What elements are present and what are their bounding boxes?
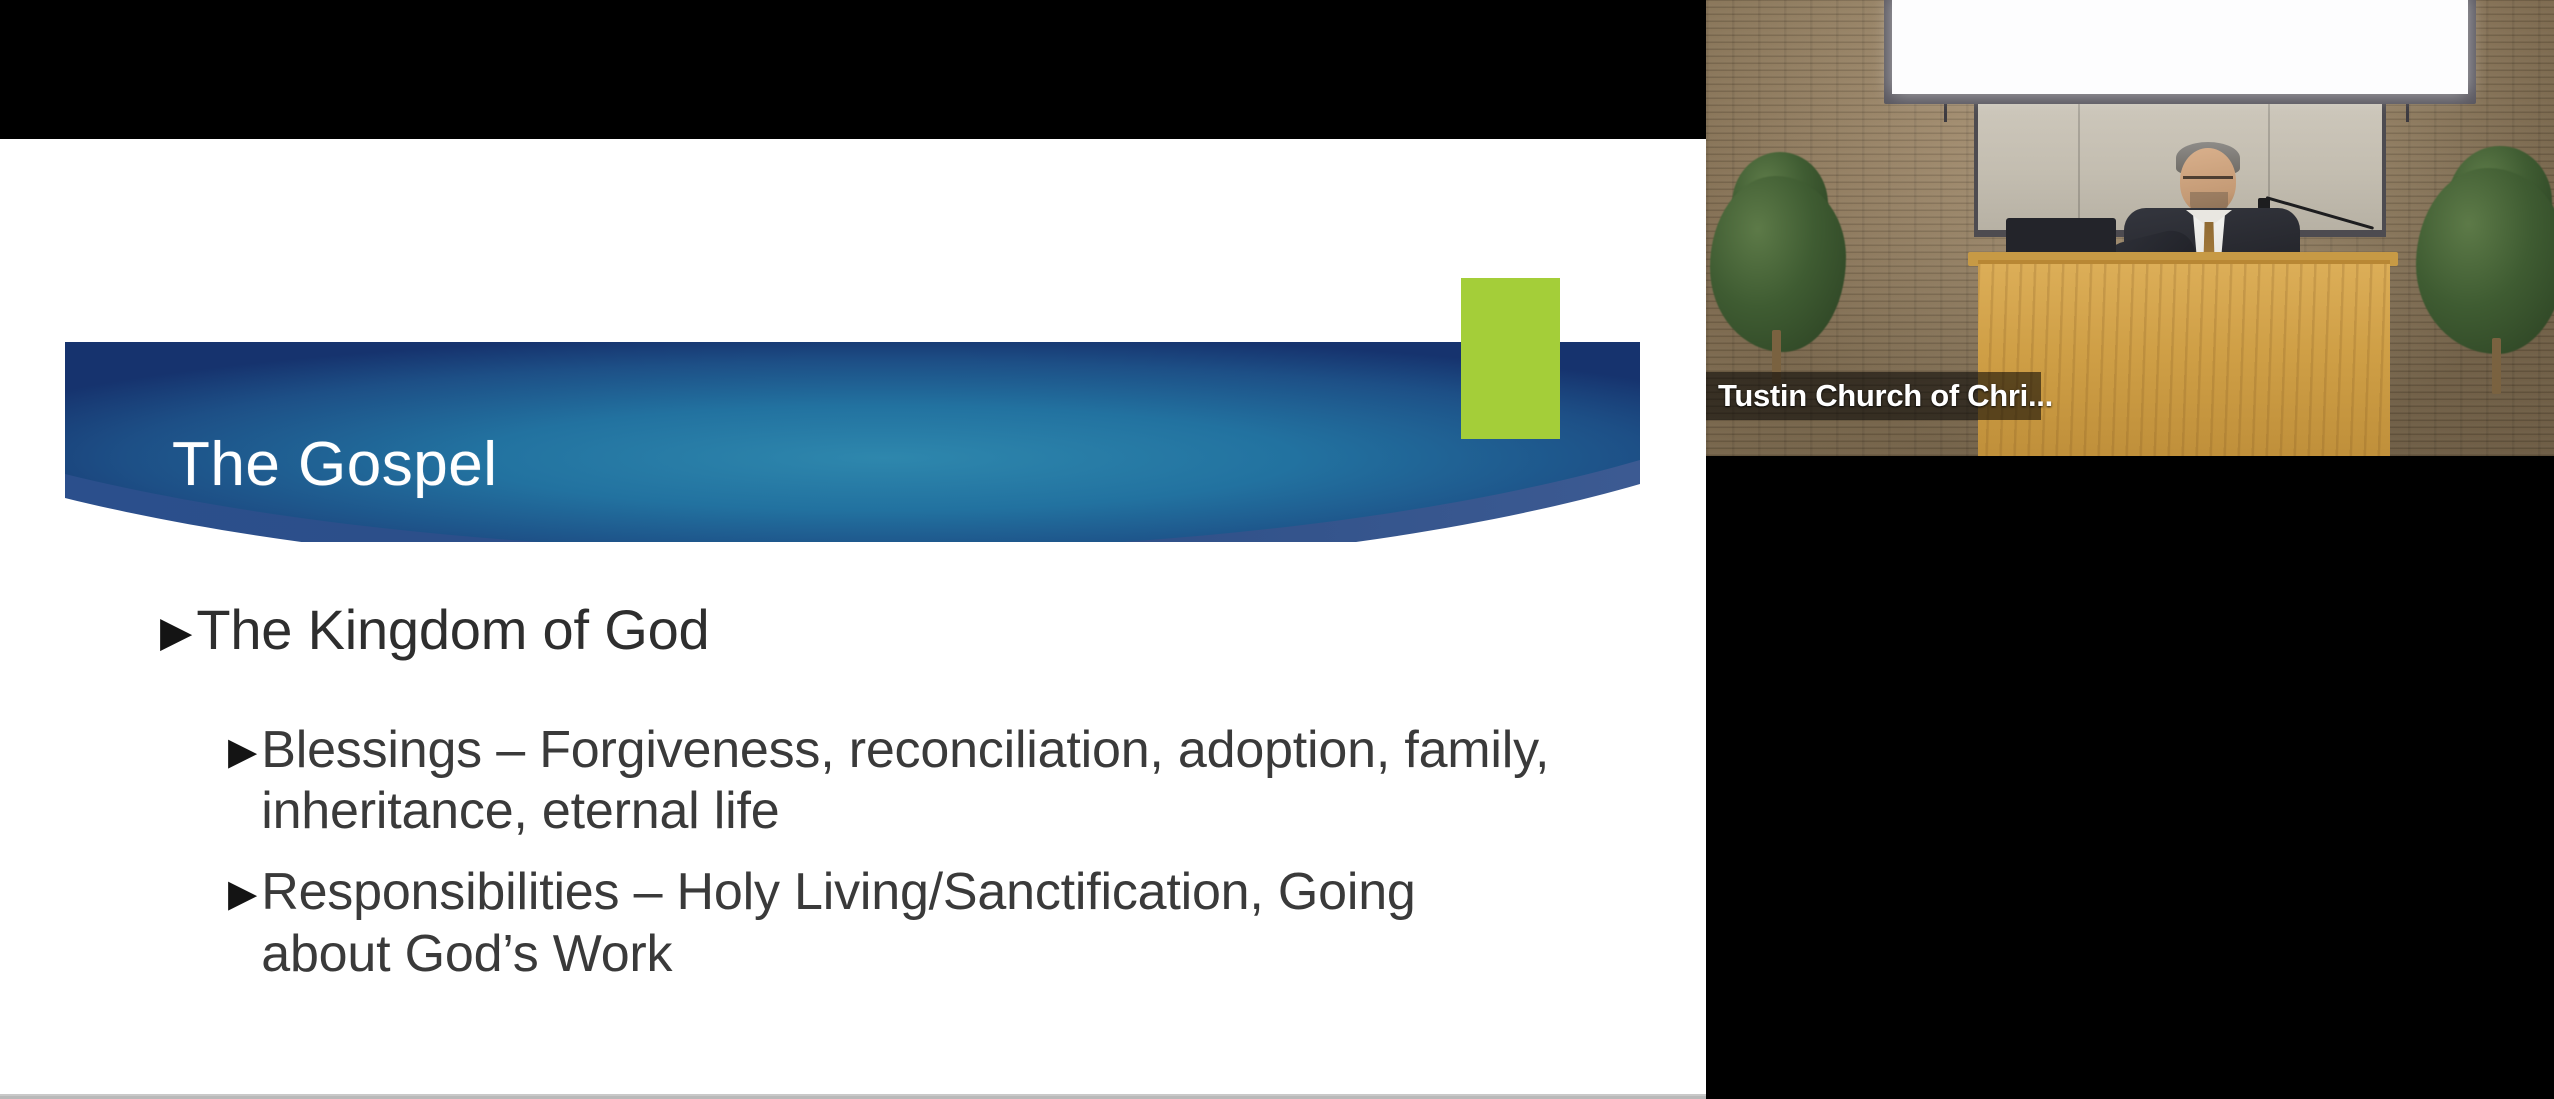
- potted-plant-left: [1710, 176, 1846, 352]
- screen-seam: [2078, 104, 2080, 230]
- bullet-spacer: [0, 662, 1706, 720]
- slide-title: The Gospel: [172, 434, 498, 496]
- plant-stem-right: [2492, 338, 2501, 394]
- projector-screen-bright: [1892, 0, 2468, 94]
- projector-screen-arm-right: [2406, 104, 2409, 122]
- slide-bullet-list: ▶ The Kingdom of God ▶ Blessings – Forgi…: [0, 599, 1706, 993]
- wooden-podium: [1978, 260, 2390, 456]
- participant-name-label: Tustin Church of Chri...: [1706, 372, 2041, 420]
- participant-name-text: Tustin Church of Chri...: [1706, 378, 2053, 414]
- bullet-text: The Kingdom of God: [196, 599, 709, 662]
- empty-gallery-area: [1706, 456, 2554, 1099]
- bullet-level-2: ▶ Responsibilities – Holy Living/Sanctif…: [0, 862, 1706, 985]
- participant-video-tile[interactable]: Tustin Church of Chri...: [1706, 0, 2554, 456]
- bullet-level-1: ▶ The Kingdom of God: [0, 599, 1706, 662]
- triangle-bullet-icon: ▶: [228, 733, 257, 771]
- triangle-bullet-icon: ▶: [160, 611, 192, 653]
- screen-share-view: The Gospel ▶ The Kingdom of God ▶ Blessi…: [0, 0, 2554, 1099]
- bullet-spacer: [0, 850, 1706, 862]
- green-accent-bar: [1461, 278, 1560, 439]
- bullet-level-2: ▶ Blessings – Forgiveness, reconciliatio…: [0, 720, 1706, 843]
- letterbox-top-bar: [0, 0, 1706, 139]
- bullet-text: Responsibilities – Holy Living/Sanctific…: [261, 862, 1551, 985]
- projector-screen-arm-left: [1944, 104, 1947, 122]
- shared-slide[interactable]: The Gospel ▶ The Kingdom of God ▶ Blessi…: [0, 139, 1706, 1096]
- bullet-text: Blessings – Forgiveness, reconciliation,…: [261, 720, 1551, 843]
- triangle-bullet-icon: ▶: [228, 875, 257, 913]
- glasses-icon: [2183, 176, 2233, 189]
